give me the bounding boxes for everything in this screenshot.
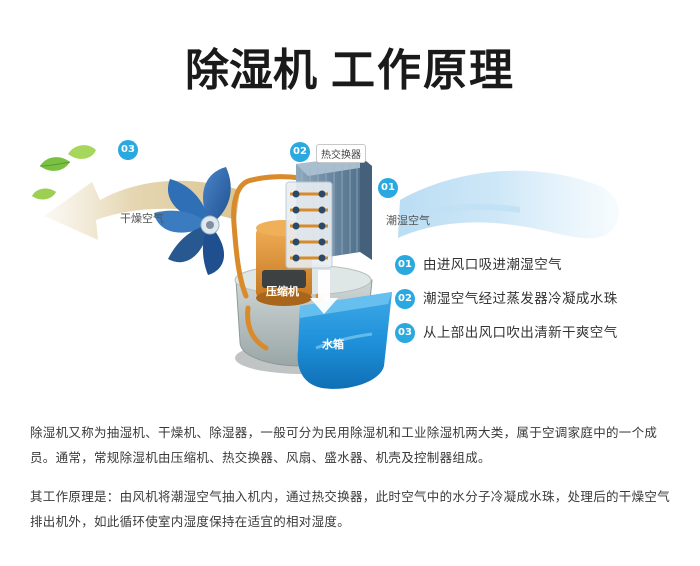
label-dry-air: 干燥空气 (120, 210, 164, 226)
legend-item-03: 03 从上部出风口吹出清新干爽空气 (395, 320, 695, 354)
legend-badge-02: 02 (395, 289, 415, 309)
badge-01-diagram: 01 (378, 178, 398, 198)
title-part-1: 除湿机 (185, 45, 317, 96)
description-paragraph-2: 其工作原理是：由风机将潮湿空气抽入机内，通过热交换器，此时空气中的水分子冷凝成水… (30, 484, 675, 534)
description-paragraph-1: 除湿机又称为抽湿机、干燥机、除湿器，一般可分为民用除湿机和工业除湿机两大类，属于… (30, 420, 675, 470)
legend-label-02: 潮湿空气经过蒸发器冷凝成水珠 (423, 287, 618, 307)
legend-item-01: 01 由进风口吸进潮湿空气 (395, 252, 695, 286)
water-tank (298, 292, 392, 389)
condenser-coils (286, 182, 332, 268)
legend-item-02: 02 潮湿空气经过蒸发器冷凝成水珠 (395, 286, 695, 320)
title-text: 除湿机工作原理 (185, 34, 515, 98)
description-block: 除湿机又称为抽湿机、干燥机、除湿器，一般可分为民用除湿机和工业除湿机两大类，属于… (30, 420, 675, 534)
label-heat-exchanger: 热交换器 (316, 144, 366, 163)
label-compressor: 压缩机 (266, 283, 299, 299)
badge-03-diagram: 03 (118, 140, 138, 160)
page-root: 除湿机工作原理 (0, 0, 700, 566)
badge-02-diagram: 02 (290, 142, 310, 162)
legend-badge-03: 03 (395, 323, 415, 343)
page-title: 除湿机工作原理 (0, 34, 700, 98)
legend-label-01: 由进风口吸进潮湿空气 (423, 253, 562, 273)
legend-list: 01 由进风口吸进潮湿空气 02 潮湿空气经过蒸发器冷凝成水珠 03 从上部出风… (395, 252, 695, 354)
legend-label-03: 从上部出风口吹出清新干爽空气 (423, 321, 618, 341)
title-part-2: 工作原理 (331, 45, 515, 96)
legend-badge-01: 01 (395, 255, 415, 275)
label-water-tank: 水箱 (322, 336, 344, 352)
label-humid-air: 潮湿空气 (386, 212, 430, 228)
